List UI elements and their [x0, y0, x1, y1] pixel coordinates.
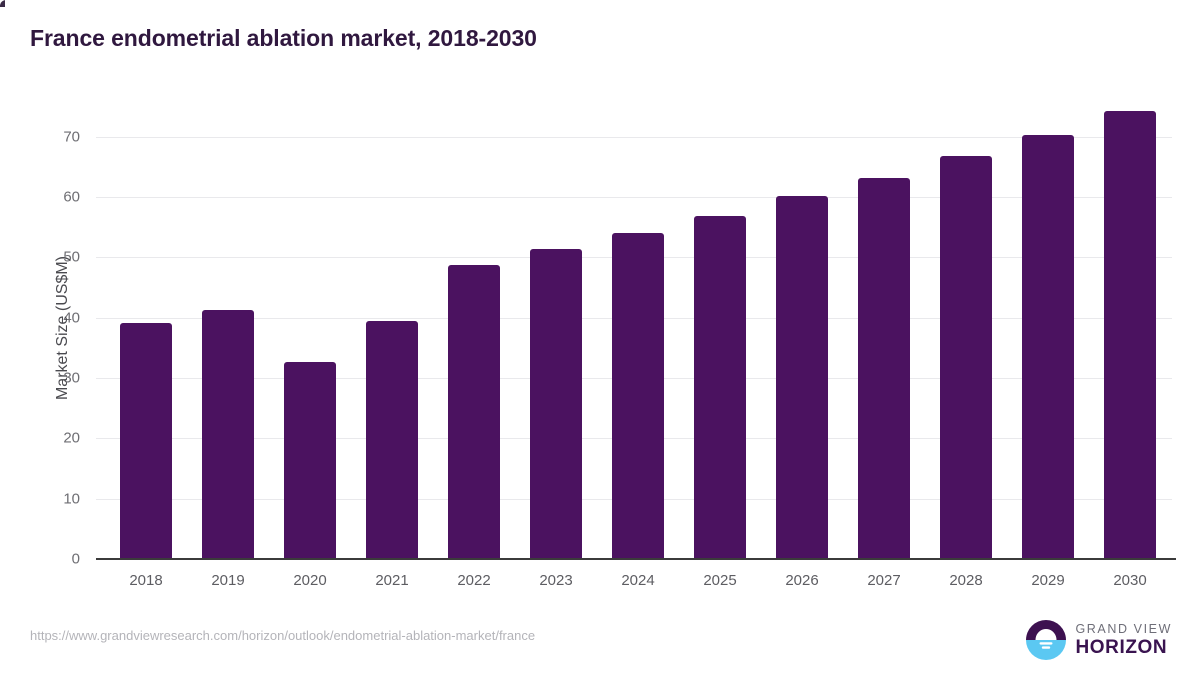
gridline	[96, 137, 1172, 138]
bar-2026[interactable]	[776, 196, 828, 559]
x-axis-tick-label: 2027	[843, 572, 925, 589]
x-axis-tick-label: 2030	[1089, 572, 1171, 589]
chart-page: France endometrial ablation market, 2018…	[0, 0, 1200, 675]
x-axis-tick-label: 2022	[433, 572, 515, 589]
bar-2020[interactable]	[284, 362, 336, 559]
bar-2022[interactable]	[448, 265, 500, 559]
x-axis-tick-label: 2028	[925, 572, 1007, 589]
logo-line-2: HORIZON	[1075, 638, 1172, 657]
bar-2019[interactable]	[202, 310, 254, 559]
x-axis-tick-label: 2029	[1007, 572, 1089, 589]
bar-2018[interactable]	[120, 323, 172, 559]
grand-view-horizon-logo[interactable]: GRAND VIEW HORIZON	[1026, 620, 1172, 660]
x-axis-line	[96, 558, 1176, 560]
x-axis-tick-label: 2026	[761, 572, 843, 589]
bar-2024[interactable]	[612, 233, 664, 559]
bar-2025[interactable]	[694, 216, 746, 559]
x-axis-tick-label: 2021	[351, 572, 433, 589]
x-axis-tick-label: 2023	[515, 572, 597, 589]
gridline	[96, 197, 1172, 198]
y-axis-title: Market Size (US$M)	[54, 148, 72, 508]
bar-2029[interactable]	[1022, 135, 1074, 559]
x-axis-tick-label: 2019	[187, 572, 269, 589]
x-axis-tick-label: 2020	[269, 572, 351, 589]
x-axis-tick-label: 2018	[105, 572, 187, 589]
x-axis-tick-label: 2025	[679, 572, 761, 589]
bar-2030[interactable]	[1104, 111, 1156, 559]
bar-2023[interactable]	[530, 249, 582, 559]
source-url[interactable]: https://www.grandviewresearch.com/horizo…	[30, 628, 535, 643]
plot-area	[96, 96, 1172, 559]
horizon-globe-icon	[1026, 620, 1066, 660]
logo-line-1: GRAND VIEW	[1075, 623, 1172, 636]
bar-2027[interactable]	[858, 178, 910, 559]
chart-canvas: 010203040506070 Market Size (US$M) 20182…	[0, 0, 1200, 675]
x-axis-tick-label: 2024	[597, 572, 679, 589]
y-axis-title-holder: Market Size (US$M)	[38, 96, 58, 559]
bar-2028[interactable]	[940, 156, 992, 559]
logo-text: GRAND VIEW HORIZON	[1075, 623, 1172, 658]
bar-2021[interactable]	[366, 321, 418, 559]
